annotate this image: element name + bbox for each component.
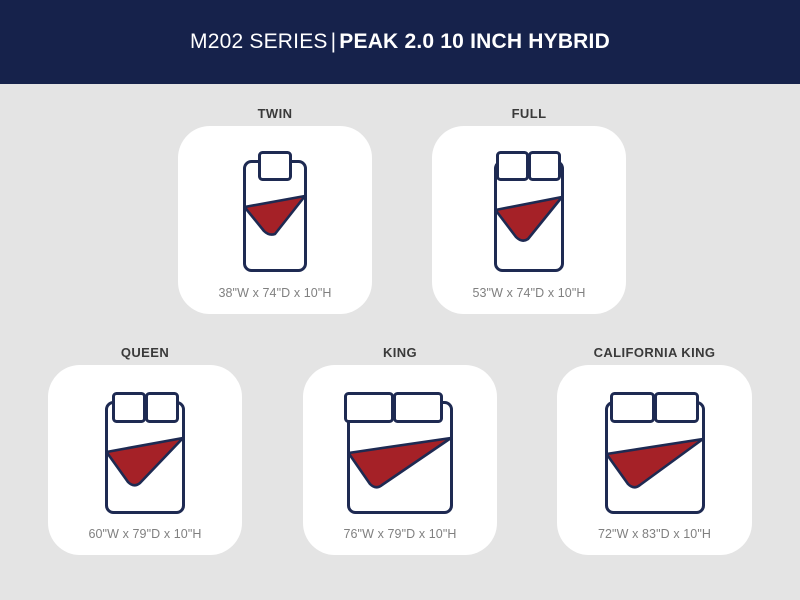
bed-illustration-holder bbox=[557, 382, 752, 527]
bed-full-icon bbox=[479, 149, 579, 279]
size-card-label: FULL bbox=[432, 106, 626, 121]
bed-california-king-icon bbox=[592, 389, 718, 521]
size-card-california-king[interactable]: CALIFORNIA KING 72"W x 83"D x 10"H bbox=[557, 345, 752, 555]
card-body: 60"W x 79"D x 10"H bbox=[48, 365, 242, 555]
card-body: 76"W x 79"D x 10"H bbox=[303, 365, 497, 555]
product-label: PEAK 2.0 10 INCH HYBRID bbox=[339, 30, 610, 53]
size-card-dimensions: 53"W x 74"D x 10"H bbox=[472, 286, 585, 300]
bed-illustration-holder bbox=[303, 382, 497, 527]
size-card-twin[interactable]: TWIN 38"W x 74"D x 10"H bbox=[178, 106, 372, 314]
size-card-dimensions: 76"W x 79"D x 10"H bbox=[343, 527, 456, 541]
size-card-dimensions: 60"W x 79"D x 10"H bbox=[88, 527, 201, 541]
bed-king-icon bbox=[334, 389, 466, 521]
card-body: 53"W x 74"D x 10"H bbox=[432, 126, 626, 314]
bed-twin-icon bbox=[234, 149, 316, 279]
size-card-full[interactable]: FULL 53"W x 74"D x 10"H bbox=[432, 106, 626, 314]
size-card-label: QUEEN bbox=[48, 345, 242, 360]
bed-illustration-holder bbox=[178, 142, 372, 286]
bed-illustration-holder bbox=[432, 142, 626, 286]
size-card-queen[interactable]: QUEEN 60"W x 79"D x 10"H bbox=[48, 345, 242, 555]
title-separator: | bbox=[328, 30, 340, 53]
card-body: 72"W x 83"D x 10"H bbox=[557, 365, 752, 555]
size-card-king[interactable]: KING 76"W x 79"D x 10"H bbox=[303, 345, 497, 555]
series-label: M202 SERIES bbox=[190, 30, 328, 53]
bed-queen-icon bbox=[91, 389, 199, 521]
size-card-dimensions: 72"W x 83"D x 10"H bbox=[598, 527, 711, 541]
bed-illustration-holder bbox=[48, 382, 242, 527]
size-chart-page: M202 SERIES|PEAK 2.0 10 INCH HYBRID TWIN… bbox=[0, 0, 800, 600]
card-body: 38"W x 74"D x 10"H bbox=[178, 126, 372, 314]
size-card-label: KING bbox=[303, 345, 497, 360]
page-title: M202 SERIES|PEAK 2.0 10 INCH HYBRID bbox=[190, 30, 610, 54]
size-card-label: CALIFORNIA KING bbox=[557, 345, 752, 360]
size-card-label: TWIN bbox=[178, 106, 372, 121]
size-card-dimensions: 38"W x 74"D x 10"H bbox=[218, 286, 331, 300]
page-header: M202 SERIES|PEAK 2.0 10 INCH HYBRID bbox=[0, 0, 800, 84]
